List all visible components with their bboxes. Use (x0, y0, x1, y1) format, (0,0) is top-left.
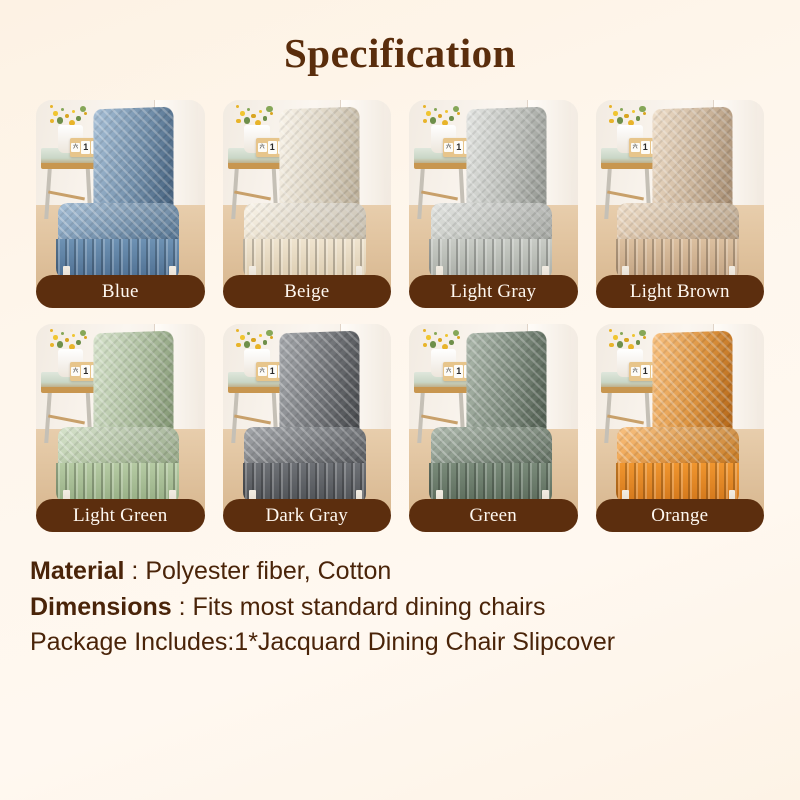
foliage-dot (76, 116, 81, 121)
foliage-dot (236, 119, 241, 124)
product-photo[interactable]: 六 1 8 (596, 324, 765, 515)
chair-ruffle-skirt (429, 463, 552, 503)
foliage-dot (263, 340, 268, 345)
foliage-dot (643, 112, 646, 115)
foliage-dot (240, 335, 245, 340)
calendar-digit-card: 1 (454, 141, 463, 154)
foliage-dot (609, 343, 614, 348)
spec-list: Material : Polyester fiber, Cotton Dimen… (0, 532, 800, 661)
color-swatch-grid: 六 1 8 Blue (0, 100, 800, 532)
foliage-dot (247, 332, 250, 335)
page-title: Specification (0, 0, 800, 74)
foliage-dot (270, 336, 273, 339)
foliage-dot (609, 329, 612, 332)
calendar-digit-card: 1 (454, 365, 463, 378)
foliage-dot (620, 108, 623, 111)
foliage-dot (449, 116, 454, 121)
foliage-dot (50, 329, 53, 332)
foliage-dot (240, 111, 245, 116)
calendar-month-card: 六 (71, 367, 80, 376)
foliage-dot (84, 112, 87, 115)
chair-ruffle-skirt (56, 463, 179, 503)
foliage-dot (430, 341, 436, 347)
foliage-dot (50, 343, 55, 348)
foliage-dot (617, 341, 623, 347)
pleat-texture (56, 463, 179, 503)
foliage-dot (609, 119, 614, 124)
spec-value: 1*Jacquard Dining Chair Slipcover (234, 628, 615, 656)
calendar-digit-card: 1 (268, 365, 277, 378)
chair-ruffle-skirt (243, 239, 366, 279)
color-swatch[interactable]: 六 1 8 Blue (36, 100, 205, 308)
spec-line: Package Includes:1*Jacquard Dining Chair… (30, 625, 770, 661)
color-label[interactable]: Orange (596, 499, 765, 532)
foliage-dot (244, 341, 250, 347)
foliage-dot (449, 340, 454, 345)
spec-separator: : (124, 557, 145, 585)
spec-line: Dimensions : Fits most standard dining c… (30, 590, 770, 626)
foliage-dot (65, 114, 70, 119)
foliage-dot (438, 338, 443, 343)
foliage-dot (636, 116, 641, 121)
foliage-dot (50, 119, 55, 124)
pleat-texture (429, 463, 552, 503)
foliage-dot (57, 117, 63, 123)
foliage-dot (61, 332, 64, 335)
foliage-dot (423, 343, 428, 348)
color-swatch[interactable]: 六 1 8 Green (409, 324, 578, 532)
foliage-dot (263, 116, 268, 121)
foliage-dot (636, 340, 641, 345)
chair-ruffle-skirt (243, 463, 366, 503)
pleat-texture (616, 463, 739, 503)
foliage-dot (76, 340, 81, 345)
product-photo[interactable]: 六 1 8 (223, 324, 392, 515)
product-photo[interactable]: 六 1 8 (409, 324, 578, 515)
foliage-dot (438, 114, 443, 119)
foliage-dot (613, 111, 618, 116)
foliage-dot (632, 110, 635, 113)
color-swatch[interactable]: 六 1 8 Light Green (36, 324, 205, 532)
foliage-dot (609, 105, 612, 108)
calendar-digit-card: 1 (81, 141, 90, 154)
foliage-dot (430, 117, 436, 123)
pleat-texture (243, 239, 366, 279)
calendar-month-card: 六 (631, 143, 640, 152)
foliage-dot (617, 117, 623, 123)
foliage-dot (259, 334, 262, 337)
foliage-dot (457, 112, 460, 115)
specification-page: Specification 六 1 8 (0, 0, 800, 800)
color-label[interactable]: Dark Gray (223, 499, 392, 532)
product-photo[interactable]: 六 1 8 (409, 100, 578, 291)
calendar-digit-card: 1 (641, 365, 650, 378)
product-photo[interactable]: 六 1 8 (223, 100, 392, 291)
spec-key: Package Includes: (30, 628, 234, 656)
chair-ruffle-skirt (429, 239, 552, 279)
chair-ruffle-skirt (56, 239, 179, 279)
spec-key: Material (30, 557, 124, 585)
foliage-dot (613, 335, 618, 340)
color-label[interactable]: Beige (223, 275, 392, 308)
spec-separator: : (172, 593, 193, 621)
pleat-texture (616, 239, 739, 279)
foliage-dot (259, 110, 262, 113)
spec-value: Fits most standard dining chairs (193, 593, 546, 621)
chair-ruffle-skirt (616, 239, 739, 279)
foliage-dot (72, 110, 75, 113)
calendar-month-card: 六 (258, 143, 267, 152)
spec-value: Polyester fiber, Cotton (145, 557, 391, 585)
foliage-dot (236, 343, 241, 348)
foliage-dot (643, 336, 646, 339)
product-photo[interactable]: 六 1 8 (36, 100, 205, 291)
color-label[interactable]: Green (409, 499, 578, 532)
calendar-month-card: 六 (71, 143, 80, 152)
calendar-month-card: 六 (258, 367, 267, 376)
foliage-dot (434, 108, 437, 111)
color-label[interactable]: Light Brown (596, 275, 765, 308)
foliage-dot (445, 334, 448, 337)
color-label[interactable]: Light Green (36, 499, 205, 532)
foliage-dot (457, 336, 460, 339)
foliage-dot (620, 332, 623, 335)
foliage-dot (426, 335, 431, 340)
pleat-texture (56, 239, 179, 279)
product-photo[interactable]: 六 1 8 (36, 324, 205, 515)
calendar-digit-card: 1 (81, 365, 90, 378)
color-swatch[interactable]: 六 1 8 Dark Gray (223, 324, 392, 532)
foliage-dot (445, 110, 448, 113)
foliage-dot (53, 335, 58, 340)
foliage-dot (61, 108, 64, 111)
color-swatch[interactable]: 六 1 8 Light Gray (409, 100, 578, 308)
foliage-dot (236, 329, 239, 332)
spec-line: Material : Polyester fiber, Cotton (30, 554, 770, 590)
foliage-dot (251, 114, 256, 119)
foliage-dot (50, 105, 53, 108)
foliage-dot (84, 336, 87, 339)
color-swatch[interactable]: 六 1 8 Light Brown (596, 100, 765, 308)
foliage-dot (423, 119, 428, 124)
foliage-dot (426, 111, 431, 116)
color-label[interactable]: Blue (36, 275, 205, 308)
foliage-dot (270, 112, 273, 115)
calendar-month-card: 六 (631, 367, 640, 376)
pleat-texture (429, 239, 552, 279)
foliage-dot (632, 334, 635, 337)
pleat-texture (243, 463, 366, 503)
foliage-dot (244, 117, 250, 123)
foliage-dot (53, 111, 58, 116)
foliage-dot (57, 341, 63, 347)
color-label[interactable]: Light Gray (409, 275, 578, 308)
foliage-dot (236, 105, 239, 108)
foliage-dot (434, 332, 437, 335)
spec-key: Dimensions (30, 593, 172, 621)
color-swatch[interactable]: 六 1 8 Orange (596, 324, 765, 532)
foliage-dot (624, 114, 629, 119)
foliage-dot (251, 338, 256, 343)
calendar-month-card: 六 (444, 143, 453, 152)
calendar-month-card: 六 (444, 367, 453, 376)
calendar-digit-card: 1 (268, 141, 277, 154)
color-swatch[interactable]: 六 1 8 Beige (223, 100, 392, 308)
product-photo[interactable]: 六 1 8 (596, 100, 765, 291)
foliage-dot (247, 108, 250, 111)
foliage-dot (65, 338, 70, 343)
calendar-digit-card: 1 (641, 141, 650, 154)
foliage-dot (72, 334, 75, 337)
foliage-dot (423, 329, 426, 332)
chair-ruffle-skirt (616, 463, 739, 503)
foliage-dot (423, 105, 426, 108)
foliage-dot (624, 338, 629, 343)
